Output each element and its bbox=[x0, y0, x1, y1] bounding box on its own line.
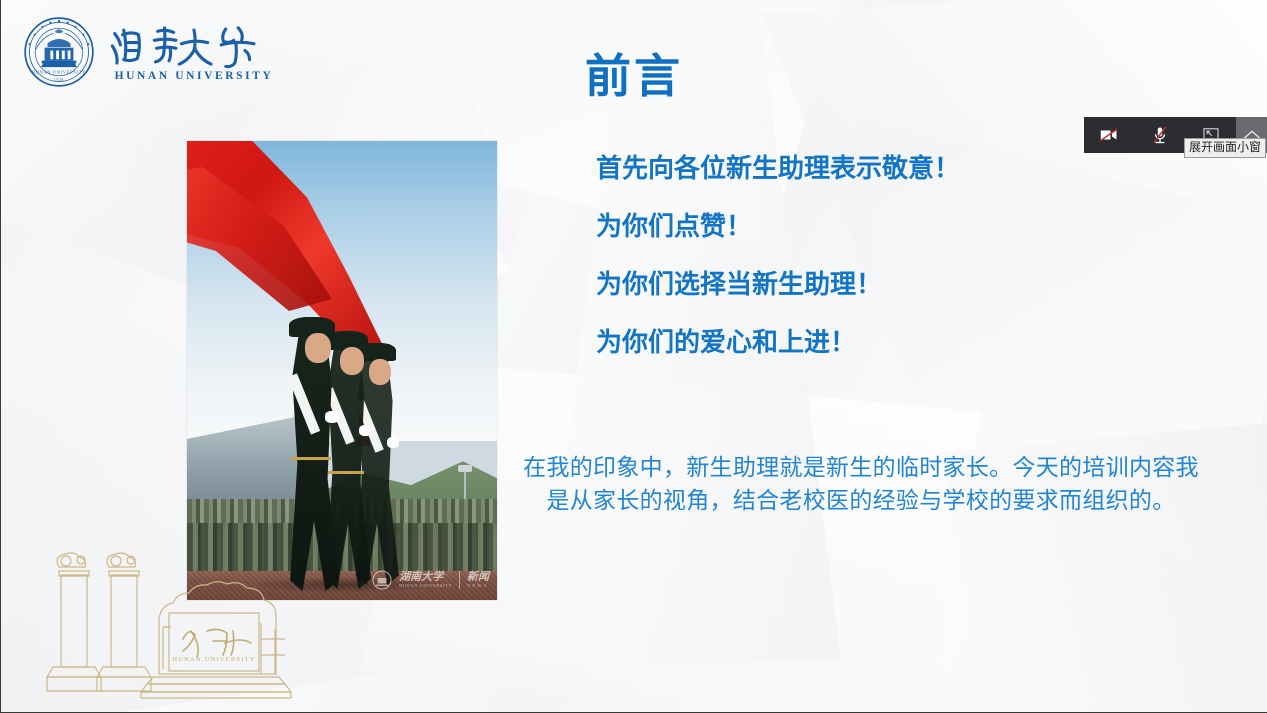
bullet-item: 为你们选择当新生助理！ bbox=[596, 272, 1236, 298]
photo-stadium-light bbox=[458, 465, 472, 472]
body-paragraph: 在我的印象中，新生助理就是新生的临时家长。今天的培训内容我是从家长的视角，结合老… bbox=[516, 452, 1206, 517]
bullet-item: 首先向各位新生助理表示敬意！ bbox=[596, 156, 1236, 182]
watermark-seal-icon bbox=[372, 570, 392, 590]
presentation-screen: HUNAN UNIVERSITY 1926 HUNAN UNIVERSITY bbox=[0, 0, 1267, 713]
honor-guard-glove bbox=[325, 411, 339, 423]
honor-guard-glove bbox=[359, 425, 372, 436]
bullet-item: 为你们点赞！ bbox=[596, 214, 1236, 240]
watermark-name-en: HUNAN UNIVERSITY bbox=[399, 583, 452, 588]
page-title: 前言 bbox=[1, 40, 1267, 106]
photo-lamp-pole bbox=[464, 471, 466, 501]
photo-watermark: 湖南大学 HUNAN UNIVERSITY 新闻 N E W S bbox=[372, 570, 489, 590]
toolbar-tooltip: 展开画面小窗 bbox=[1184, 138, 1266, 158]
camera-off-button[interactable] bbox=[1084, 117, 1135, 153]
honor-guard-cuff bbox=[328, 471, 364, 474]
watermark-divider bbox=[459, 571, 460, 589]
honor-guard-glove bbox=[387, 437, 399, 448]
camera-off-icon bbox=[1100, 128, 1118, 142]
microphone-muted-icon bbox=[1153, 126, 1167, 144]
watermark-section-block: 新闻 N E W S bbox=[467, 572, 489, 589]
ceremony-photo: 湖南大学 HUNAN UNIVERSITY 新闻 N E W S bbox=[187, 141, 497, 600]
watermark-name-cn: 湖南大学 bbox=[399, 572, 452, 584]
honor-guard-face bbox=[305, 333, 331, 363]
honor-guard-face bbox=[340, 347, 364, 375]
honor-guard-face bbox=[369, 359, 391, 385]
watermark-section-cn: 新闻 bbox=[467, 572, 489, 584]
watermark-text-block: 湖南大学 HUNAN UNIVERSITY bbox=[399, 572, 452, 589]
microphone-muted-button[interactable] bbox=[1135, 117, 1186, 153]
watermark-section-en: N E W S bbox=[467, 583, 489, 588]
honor-guard-cuff bbox=[291, 457, 331, 460]
bullet-list: 首先向各位新生助理表示敬意！ 为你们点赞！ 为你们选择当新生助理！ 为你们的爱心… bbox=[596, 156, 1236, 388]
bullet-item: 为你们的爱心和上进！ bbox=[596, 330, 1236, 356]
